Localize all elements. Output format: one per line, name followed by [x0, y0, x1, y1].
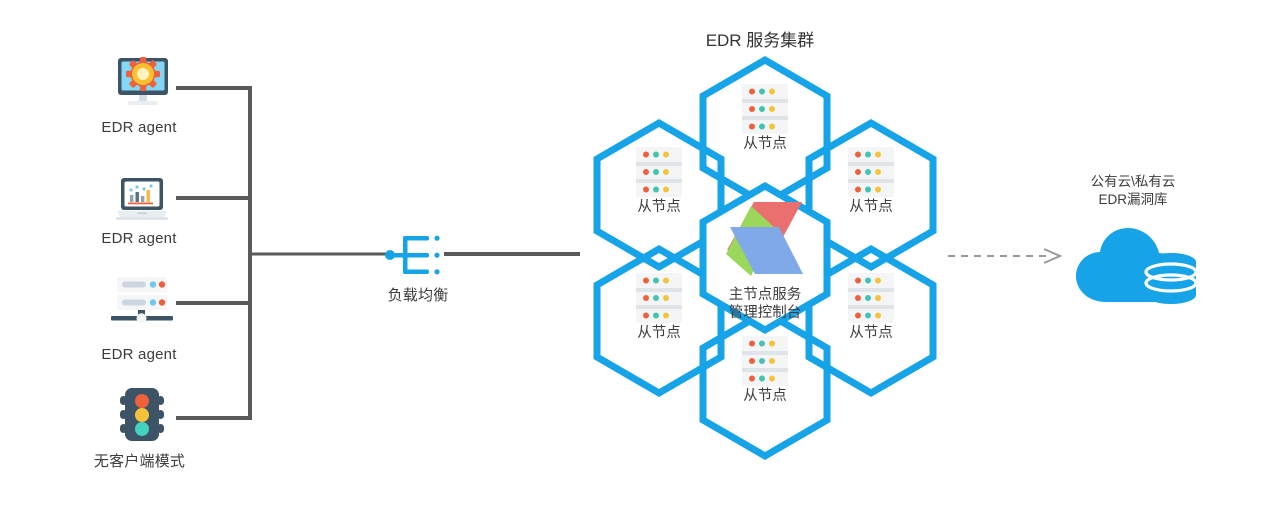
- server-stack-icon: [742, 336, 788, 386]
- load-balancer-label: 负载均衡: [343, 286, 493, 305]
- slave-node-label-4: 从节点: [811, 324, 931, 342]
- slave-node-label-0: 从节点: [705, 135, 825, 153]
- server-stack-icon: [636, 147, 682, 197]
- slave-node-label-5: 从节点: [705, 387, 825, 405]
- master-node-label-2: 管理控制台: [700, 304, 830, 322]
- load-balancer-fork-icon: [385, 232, 447, 278]
- left-item-label-0: EDR agent: [64, 118, 214, 137]
- slave-node-label-2: 从节点: [811, 198, 931, 216]
- master-node-label-1: 主节点服务: [700, 286, 830, 304]
- traffic-light-icon: [114, 386, 170, 446]
- server-stack-icon: [848, 147, 894, 197]
- left-item-label-1: EDR agent: [64, 229, 214, 248]
- cube-logo-icon: [713, 198, 817, 280]
- cloud-label-1: 公有云\私有云: [1058, 173, 1208, 191]
- cluster-title: EDR 服务集群: [655, 30, 865, 52]
- left-item-label-3: 无客户端模式: [62, 452, 217, 471]
- server-stack-icon: [636, 273, 682, 323]
- monitor-gear-icon: [114, 56, 172, 112]
- laptop-chart-icon: [116, 177, 168, 225]
- server-rack-icon: [108, 276, 176, 324]
- slave-node-label-3: 从节点: [599, 324, 719, 342]
- slave-node-label-1: 从节点: [599, 198, 719, 216]
- cloud-database-icon: [1068, 218, 1204, 306]
- cloud-label-2: EDR漏洞库: [1058, 191, 1208, 209]
- left-item-label-2: EDR agent: [64, 345, 214, 364]
- diagram-canvas: EDR agent EDR agent: [0, 0, 1267, 516]
- server-stack-icon: [742, 84, 788, 134]
- server-stack-icon: [848, 273, 894, 323]
